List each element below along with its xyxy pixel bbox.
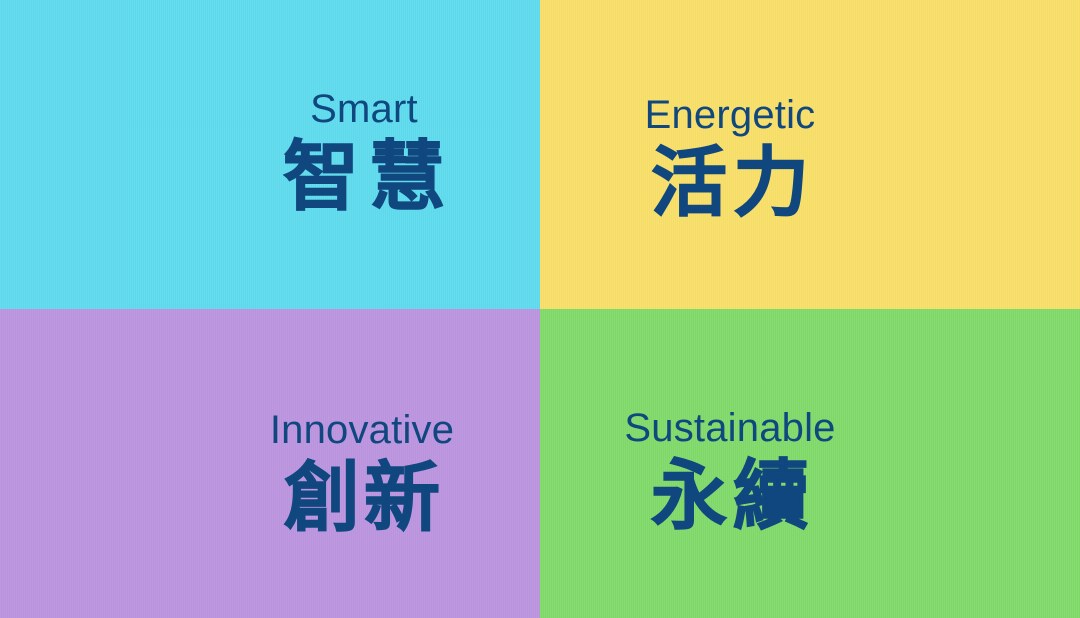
quadrant-innovative[interactable]: Innovative 創新 bbox=[0, 309, 540, 618]
quadrant-smart[interactable]: Smart 智慧 bbox=[0, 0, 540, 309]
quadrant-sustainable-content: Sustainable 永續 bbox=[540, 407, 1080, 538]
quadrant-smart-content: Smart 智慧 bbox=[0, 88, 540, 219]
quadrant-innovative-label-cjk: 創新 bbox=[280, 455, 444, 540]
quadrant-smart-label-cjk: 智慧 bbox=[273, 134, 455, 219]
quadrant-energetic-content: Energetic 活力 bbox=[540, 94, 1080, 225]
quadrant-smart-label-en: Smart bbox=[310, 88, 418, 130]
quadrant-energetic-label-cjk: 活力 bbox=[645, 140, 815, 225]
quadrant-sustainable[interactable]: Sustainable 永續 bbox=[540, 309, 1080, 618]
quadrant-energetic-label-en: Energetic bbox=[645, 94, 816, 136]
quadrant-sustainable-text-stack: Sustainable 永續 bbox=[624, 407, 835, 538]
quadrant-innovative-text-stack: Innovative 創新 bbox=[270, 409, 454, 540]
quadrant-sustainable-label-cjk: 永續 bbox=[645, 453, 815, 538]
quadrant-smart-text-stack: Smart 智慧 bbox=[273, 88, 455, 219]
quadrant-innovative-content: Innovative 創新 bbox=[0, 409, 540, 540]
quadrant-innovative-label-en: Innovative bbox=[270, 409, 454, 451]
quadrant-sustainable-label-en: Sustainable bbox=[624, 407, 835, 449]
quadrant-energetic-text-stack: Energetic 活力 bbox=[645, 94, 816, 225]
brand-values-board: Smart 智慧 Energetic 活力 Innovative 創新 Sust… bbox=[0, 0, 1080, 618]
quadrant-energetic[interactable]: Energetic 活力 bbox=[540, 0, 1080, 309]
